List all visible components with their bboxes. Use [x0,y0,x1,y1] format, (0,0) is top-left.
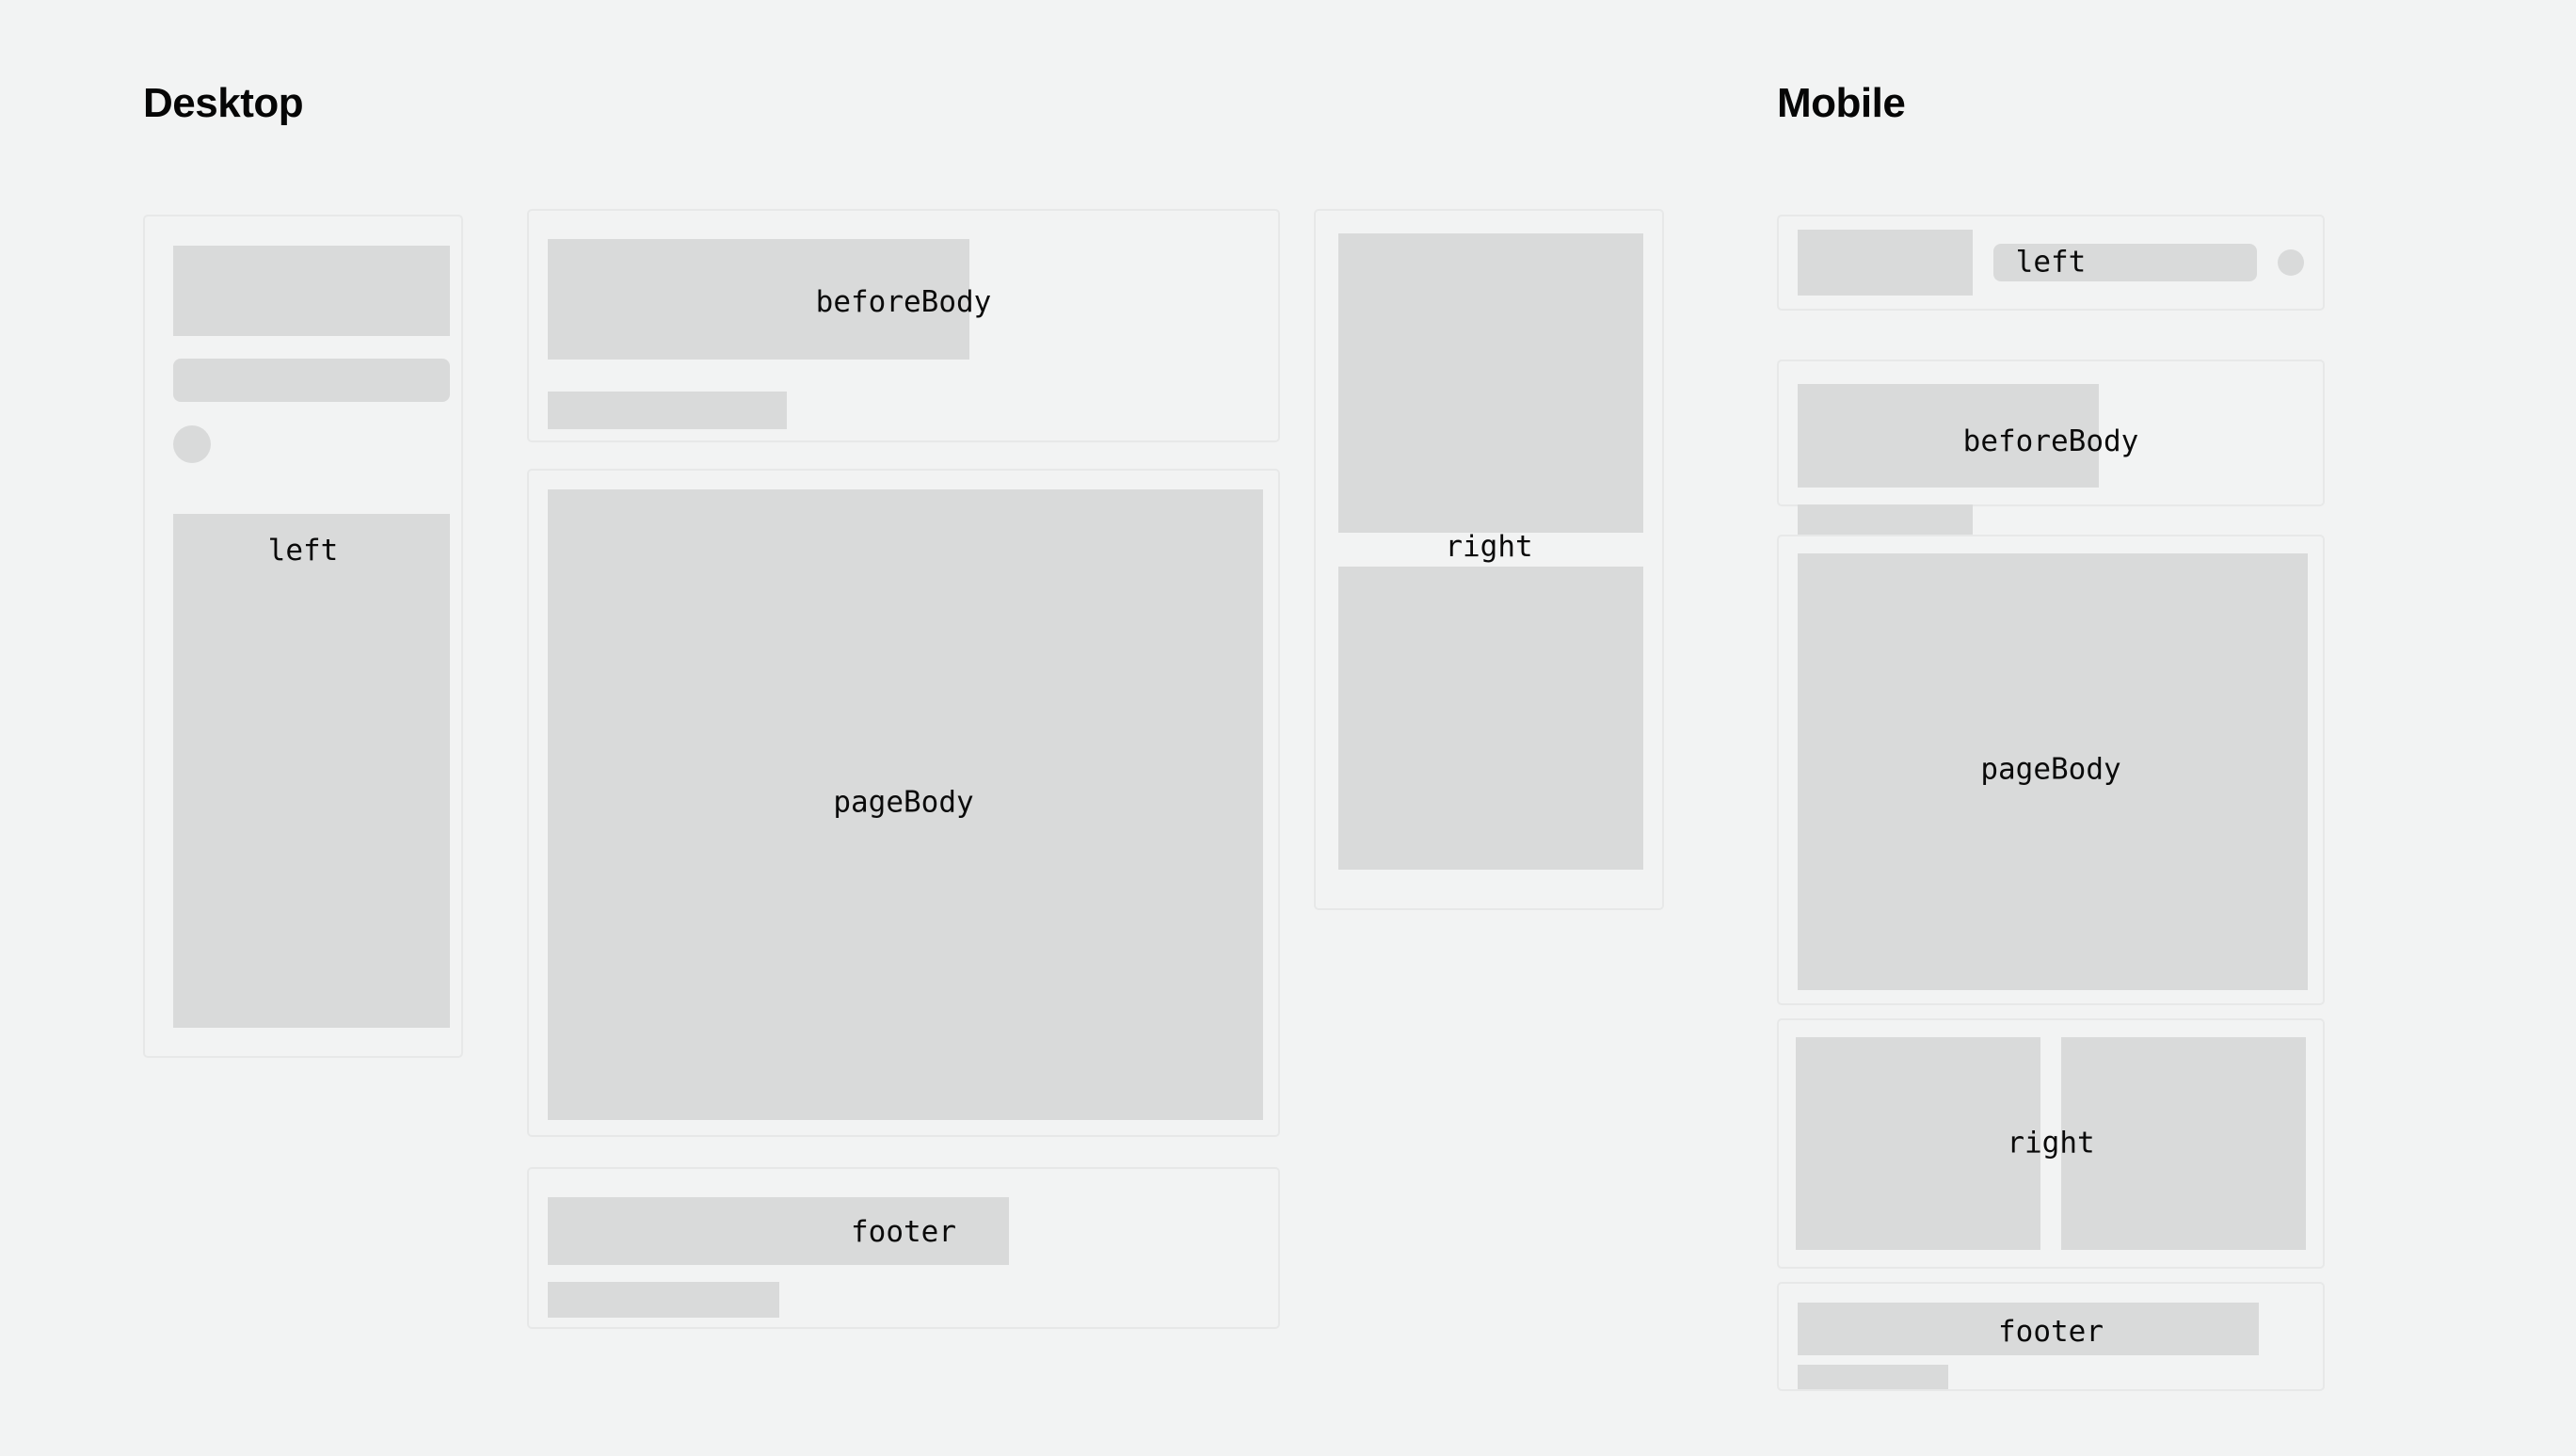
skeleton-block-small [548,1282,779,1318]
skeleton-block [548,239,969,360]
skeleton-block [1338,233,1643,533]
desktop-slot-pagebody[interactable]: pageBody [527,469,1280,1137]
mobile-slot-beforebody[interactable]: beforeBody [1777,360,2325,506]
skeleton-pill [173,359,450,402]
skeleton-avatar-circle [2278,249,2304,276]
desktop-slot-right[interactable]: right [1314,209,1664,910]
mobile-slot-right[interactable]: right [1777,1018,2325,1269]
skeleton-block [548,1197,1009,1265]
skeleton-block [2061,1037,2306,1250]
skeleton-block [1796,1037,2040,1250]
skeleton-block [1798,384,2099,488]
skeleton-block-large [548,489,1263,1120]
desktop-right-slot-label: right [1316,533,1662,562]
skeleton-avatar-circle [173,425,211,463]
desktop-slot-footer[interactable]: footer [527,1167,1280,1329]
skeleton-block-small [1798,504,1973,535]
desktop-slot-beforebody[interactable]: beforeBody [527,209,1280,442]
desktop-section-heading: Desktop [143,83,303,124]
skeleton-pill [1993,244,2257,281]
mobile-slot-left[interactable]: left [1777,215,2325,311]
mobile-section-heading: Mobile [1777,83,1905,124]
desktop-slot-left[interactable]: left [143,215,463,1058]
skeleton-block [1338,567,1643,870]
skeleton-block-small [548,392,787,429]
skeleton-block [1798,230,1973,296]
skeleton-block-large [1798,553,2308,990]
skeleton-block-tall [173,514,450,1028]
mobile-slot-footer[interactable]: footer [1777,1282,2325,1391]
skeleton-block-small [1798,1365,1948,1389]
skeleton-block [1798,1303,2259,1355]
skeleton-block [173,246,450,336]
mobile-slot-pagebody[interactable]: pageBody [1777,535,2325,1005]
